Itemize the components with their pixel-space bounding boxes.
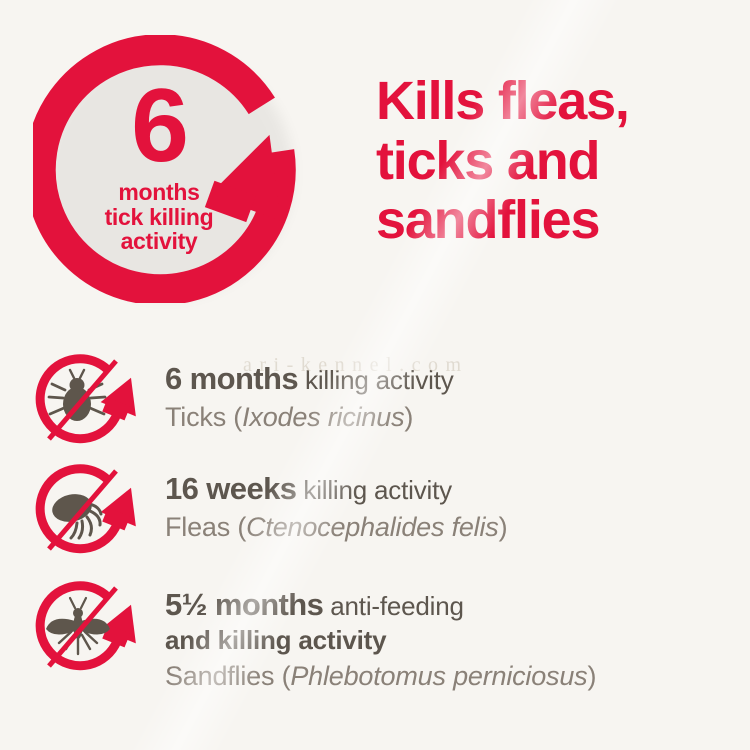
claim-species: Sandflies (Phlebotomus perniciosus) — [165, 659, 596, 695]
list-item: 16 weeks killing activity Fleas (Ctenoce… — [0, 458, 750, 565]
claim-activity: killing activity — [296, 475, 452, 505]
headline-line-2: ticks and — [376, 132, 736, 192]
species-common-name: Fleas ( — [165, 512, 246, 542]
species-paren-close: ) — [587, 661, 596, 691]
no-flea-icon — [30, 458, 142, 569]
no-tick-icon — [30, 348, 142, 459]
species-paren-close: ) — [499, 512, 508, 542]
claim-activity: killing activity — [298, 365, 454, 395]
claim-headline-continuation: and killing activity — [165, 624, 596, 658]
hero-section: 6 months tick killing activity Kills fle… — [0, 0, 750, 340]
species-scientific-name: Ctenocephalides felis — [246, 512, 498, 542]
species-scientific-name: Ixodes ricinus — [242, 402, 404, 432]
list-item: 5½ months anti-feeding and killing activ… — [0, 565, 750, 685]
species-paren-close: ) — [404, 402, 413, 432]
claim-duration: 16 weeks — [165, 471, 296, 506]
claim-text-block: 6 months killing activity Ticks (Ixodes … — [165, 348, 454, 435]
list-item: 6 months killing activity Ticks (Ixodes … — [0, 348, 750, 458]
headline-line-3: sandflies — [376, 191, 736, 251]
claim-headline: 5½ months anti-feeding — [165, 587, 596, 624]
no-sandfly-icon — [30, 565, 142, 686]
claims-list: 6 months killing activity Ticks (Ixodes … — [0, 348, 750, 685]
claim-duration: 6 months — [165, 361, 298, 396]
claim-headline: 6 months killing activity — [165, 361, 454, 398]
claim-species: Fleas (Ctenocephalides felis) — [165, 510, 507, 546]
claim-text-block: 5½ months anti-feeding and killing activ… — [165, 565, 596, 695]
page-title: Kills fleas, ticks and sandflies — [376, 72, 736, 251]
infographic-root: 6 months tick killing activity Kills fle… — [0, 0, 750, 750]
species-scientific-name: Phlebotomus perniciosus — [290, 661, 587, 691]
headline-line-1: Kills fleas, — [376, 72, 736, 132]
claim-activity: anti-feeding — [323, 591, 464, 621]
claim-duration: 5½ months — [165, 587, 323, 622]
species-common-name: Ticks ( — [165, 402, 242, 432]
six-month-badge: 6 months tick killing activity — [33, 35, 305, 303]
claim-species: Ticks (Ixodes ricinus) — [165, 400, 454, 436]
tick-silhouette — [49, 370, 105, 421]
species-common-name: Sandflies ( — [165, 661, 290, 691]
circular-arrow-icon — [33, 35, 305, 303]
claim-headline: 16 weeks killing activity — [165, 471, 507, 508]
claim-text-block: 16 weeks killing activity Fleas (Ctenoce… — [165, 458, 507, 545]
